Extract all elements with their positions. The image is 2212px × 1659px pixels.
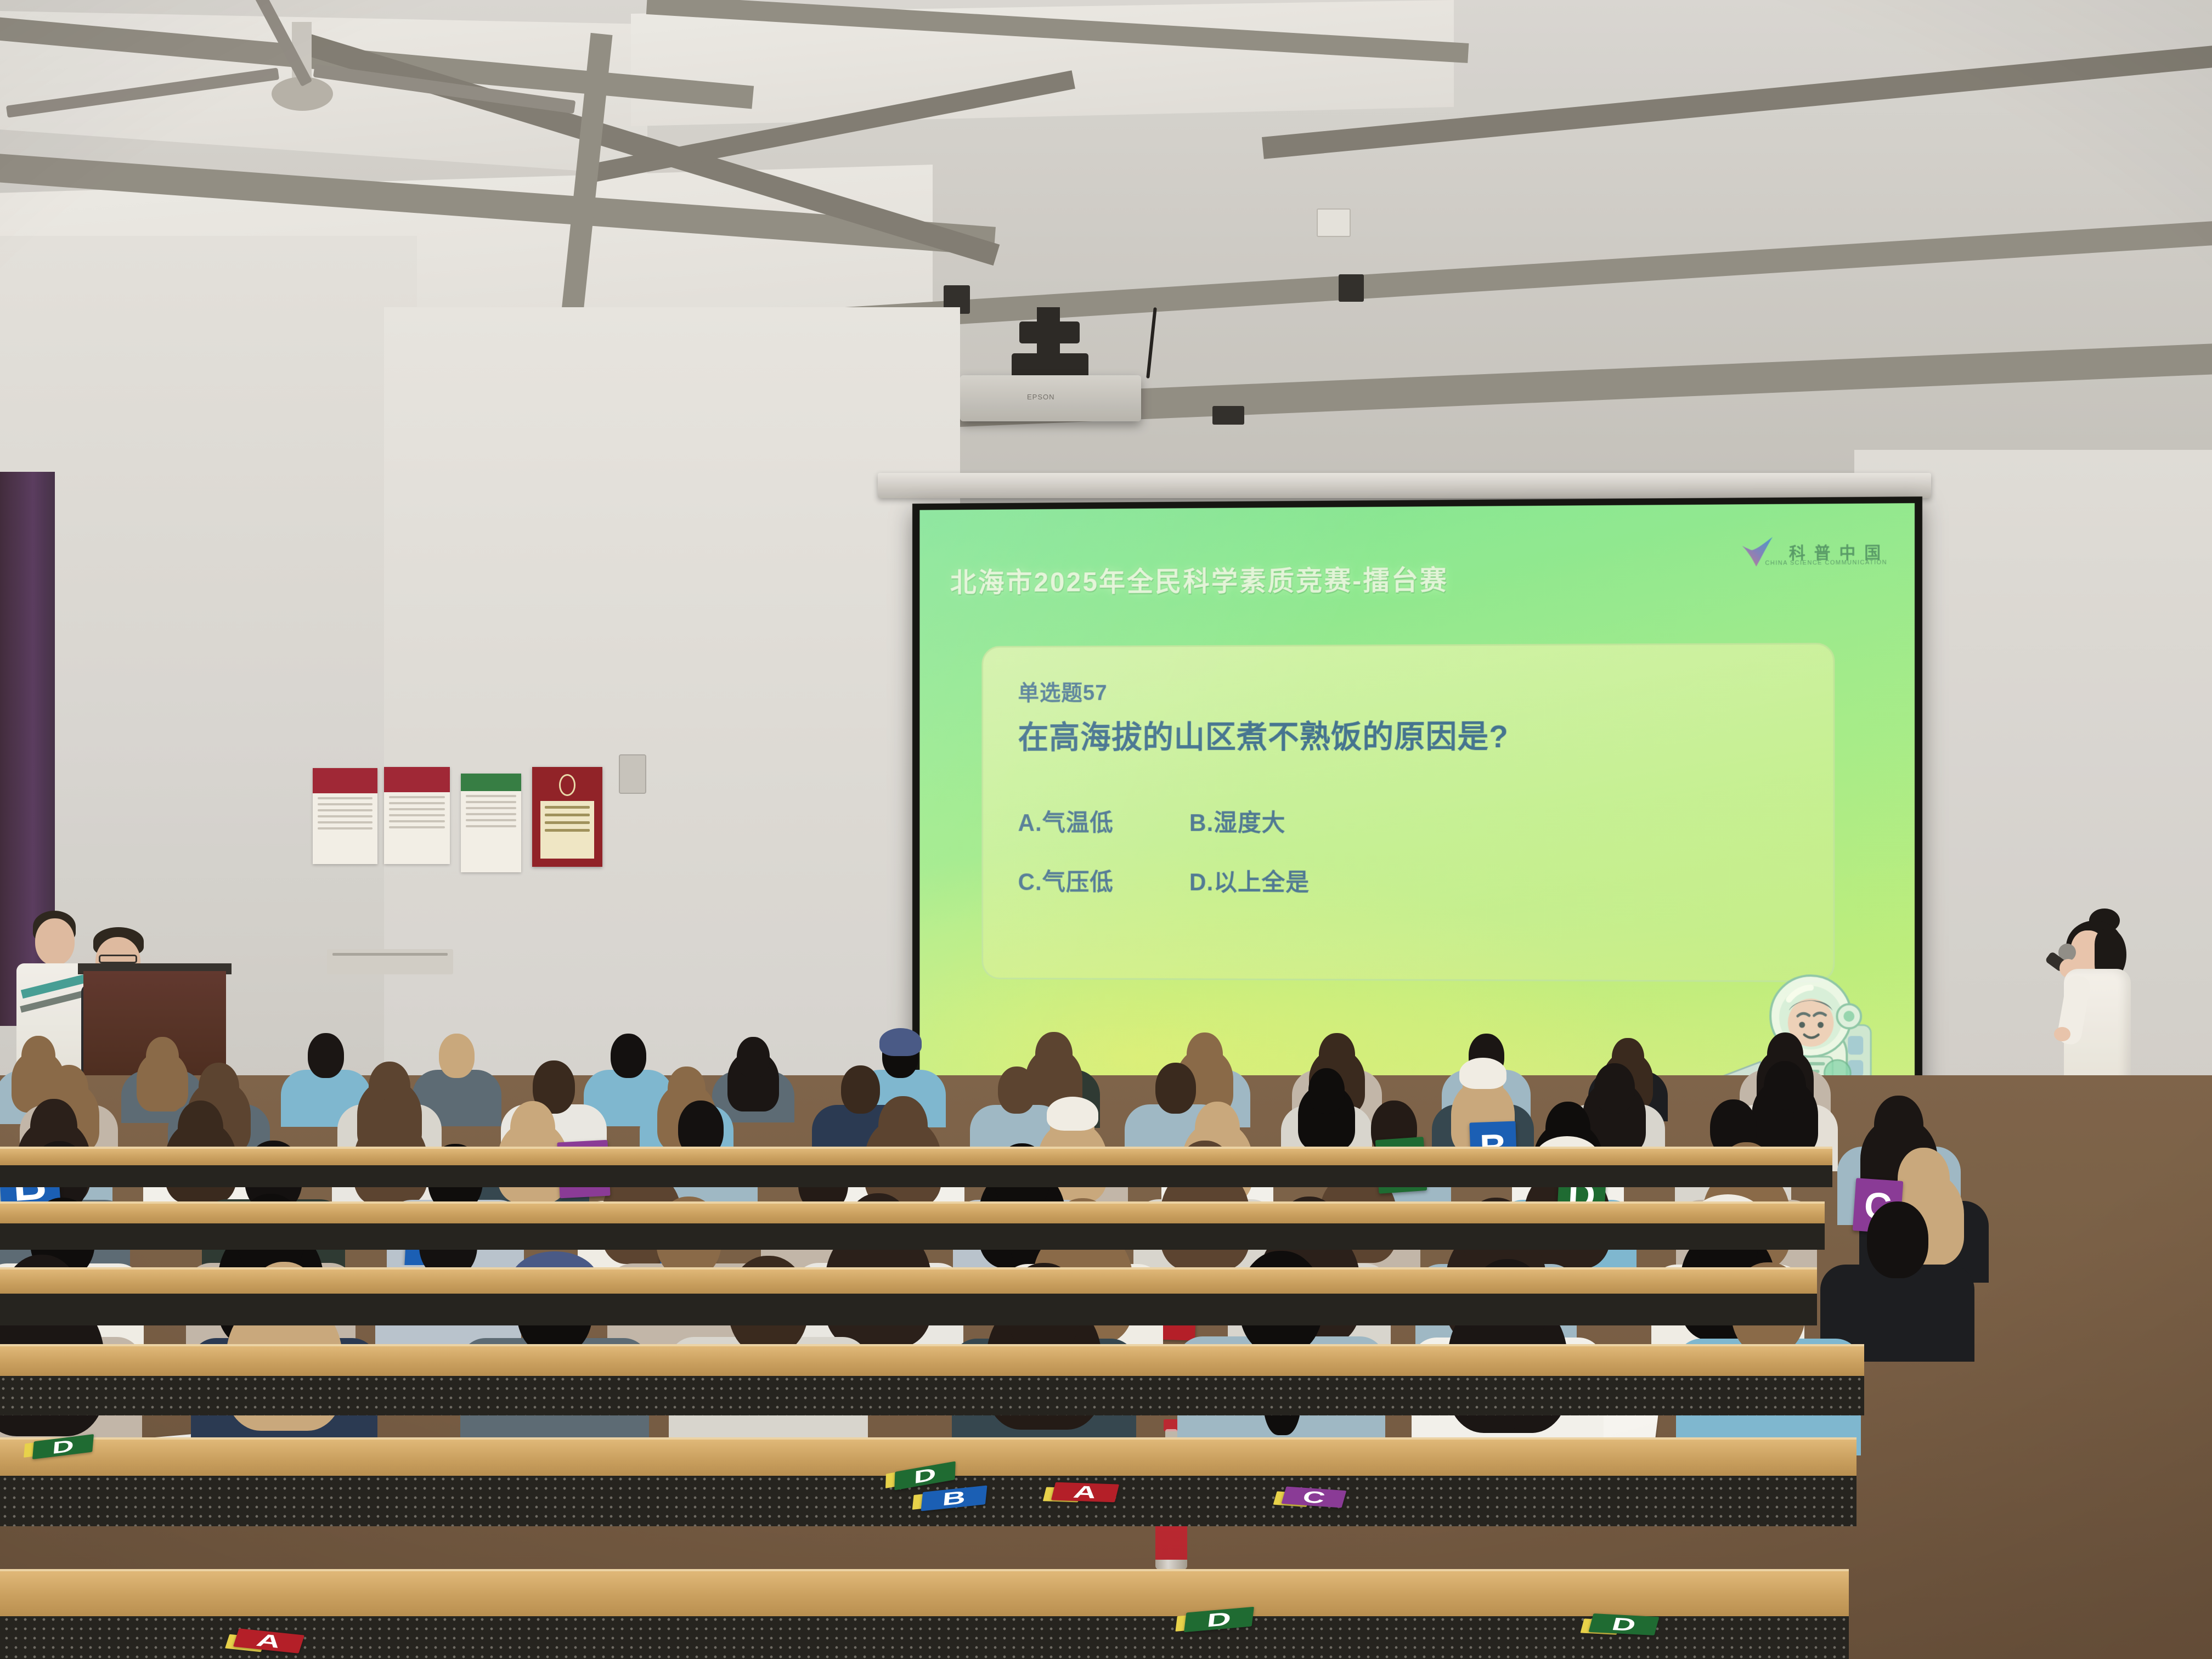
wall-poster xyxy=(384,767,450,864)
desk-row xyxy=(0,1344,1864,1376)
poster-header xyxy=(384,767,450,792)
option-b: B.湿度大 xyxy=(1189,803,1285,838)
option-c: C.气压低 xyxy=(1018,862,1114,897)
brand-logo: 科普中国 CHINA SCIENCE COMMUNICATION xyxy=(1739,535,1889,567)
audience-member-head xyxy=(737,1037,770,1078)
plaque-emblem-icon xyxy=(559,774,576,796)
wall-poster xyxy=(313,768,377,864)
brand-logo-en-label: CHINA SCIENCE COMMUNICATION xyxy=(1765,559,1888,566)
audience-member-head xyxy=(439,1034,475,1078)
poster-header xyxy=(313,768,377,793)
answer-card-d[interactable]: D xyxy=(1589,1613,1660,1635)
projection-screen-roller xyxy=(878,473,1931,498)
ceiling-junction-box xyxy=(1317,208,1351,237)
slide-header-title: 北海市2025年全民科学素质竞赛-擂台赛 xyxy=(950,558,1448,600)
wall-sign xyxy=(327,949,453,974)
desk-front-panel xyxy=(0,1223,1825,1250)
question-card: 单选题57 在高海拔的山区煮不熟饭的原因是? A.气温低 B.湿度大 C.气压低… xyxy=(981,643,1835,983)
desk-front-panel xyxy=(0,1376,1864,1415)
lecture-hall-photo: EPSON xyxy=(0,0,2212,1659)
projector-brand-label: EPSON xyxy=(1027,393,1055,401)
beam-mounted-bracket xyxy=(1212,406,1244,425)
audience-member-cap xyxy=(879,1028,922,1056)
staff-head xyxy=(35,918,75,966)
question-text: 在高海拔的山区煮不熟饭的原因是? xyxy=(1018,711,1509,757)
audience-member-cap xyxy=(1047,1097,1098,1131)
desk-front-panel xyxy=(0,1294,1817,1325)
desk-row xyxy=(0,1569,1849,1616)
desk-row xyxy=(0,1201,1825,1223)
desk-front-panel xyxy=(0,1165,1832,1187)
projector-body: EPSON xyxy=(960,375,1141,421)
plaque-inner-panel xyxy=(540,801,594,859)
ceiling-fan xyxy=(165,22,450,132)
desk-row xyxy=(0,1147,1832,1165)
honor-plaque xyxy=(532,767,602,867)
question-number: 单选题57 xyxy=(1018,675,1108,707)
audience-member-head xyxy=(1867,1201,1928,1278)
ceiling-projector: EPSON xyxy=(955,307,1163,422)
wall-poster xyxy=(461,774,521,872)
desk-row xyxy=(0,1267,1817,1294)
projector-mount xyxy=(1019,321,1080,343)
option-d: D.以上全是 xyxy=(1189,863,1310,898)
poster-header xyxy=(461,774,521,791)
option-a: A.气温低 xyxy=(1018,804,1114,838)
answer-card-a[interactable]: A xyxy=(1051,1482,1119,1503)
audience-member-cap xyxy=(1459,1058,1506,1090)
staff-glasses-icon xyxy=(99,955,137,963)
beam-mounted-speaker xyxy=(1339,274,1364,302)
host-hand-lower xyxy=(2054,1027,2070,1041)
wall-speaker xyxy=(619,754,646,794)
